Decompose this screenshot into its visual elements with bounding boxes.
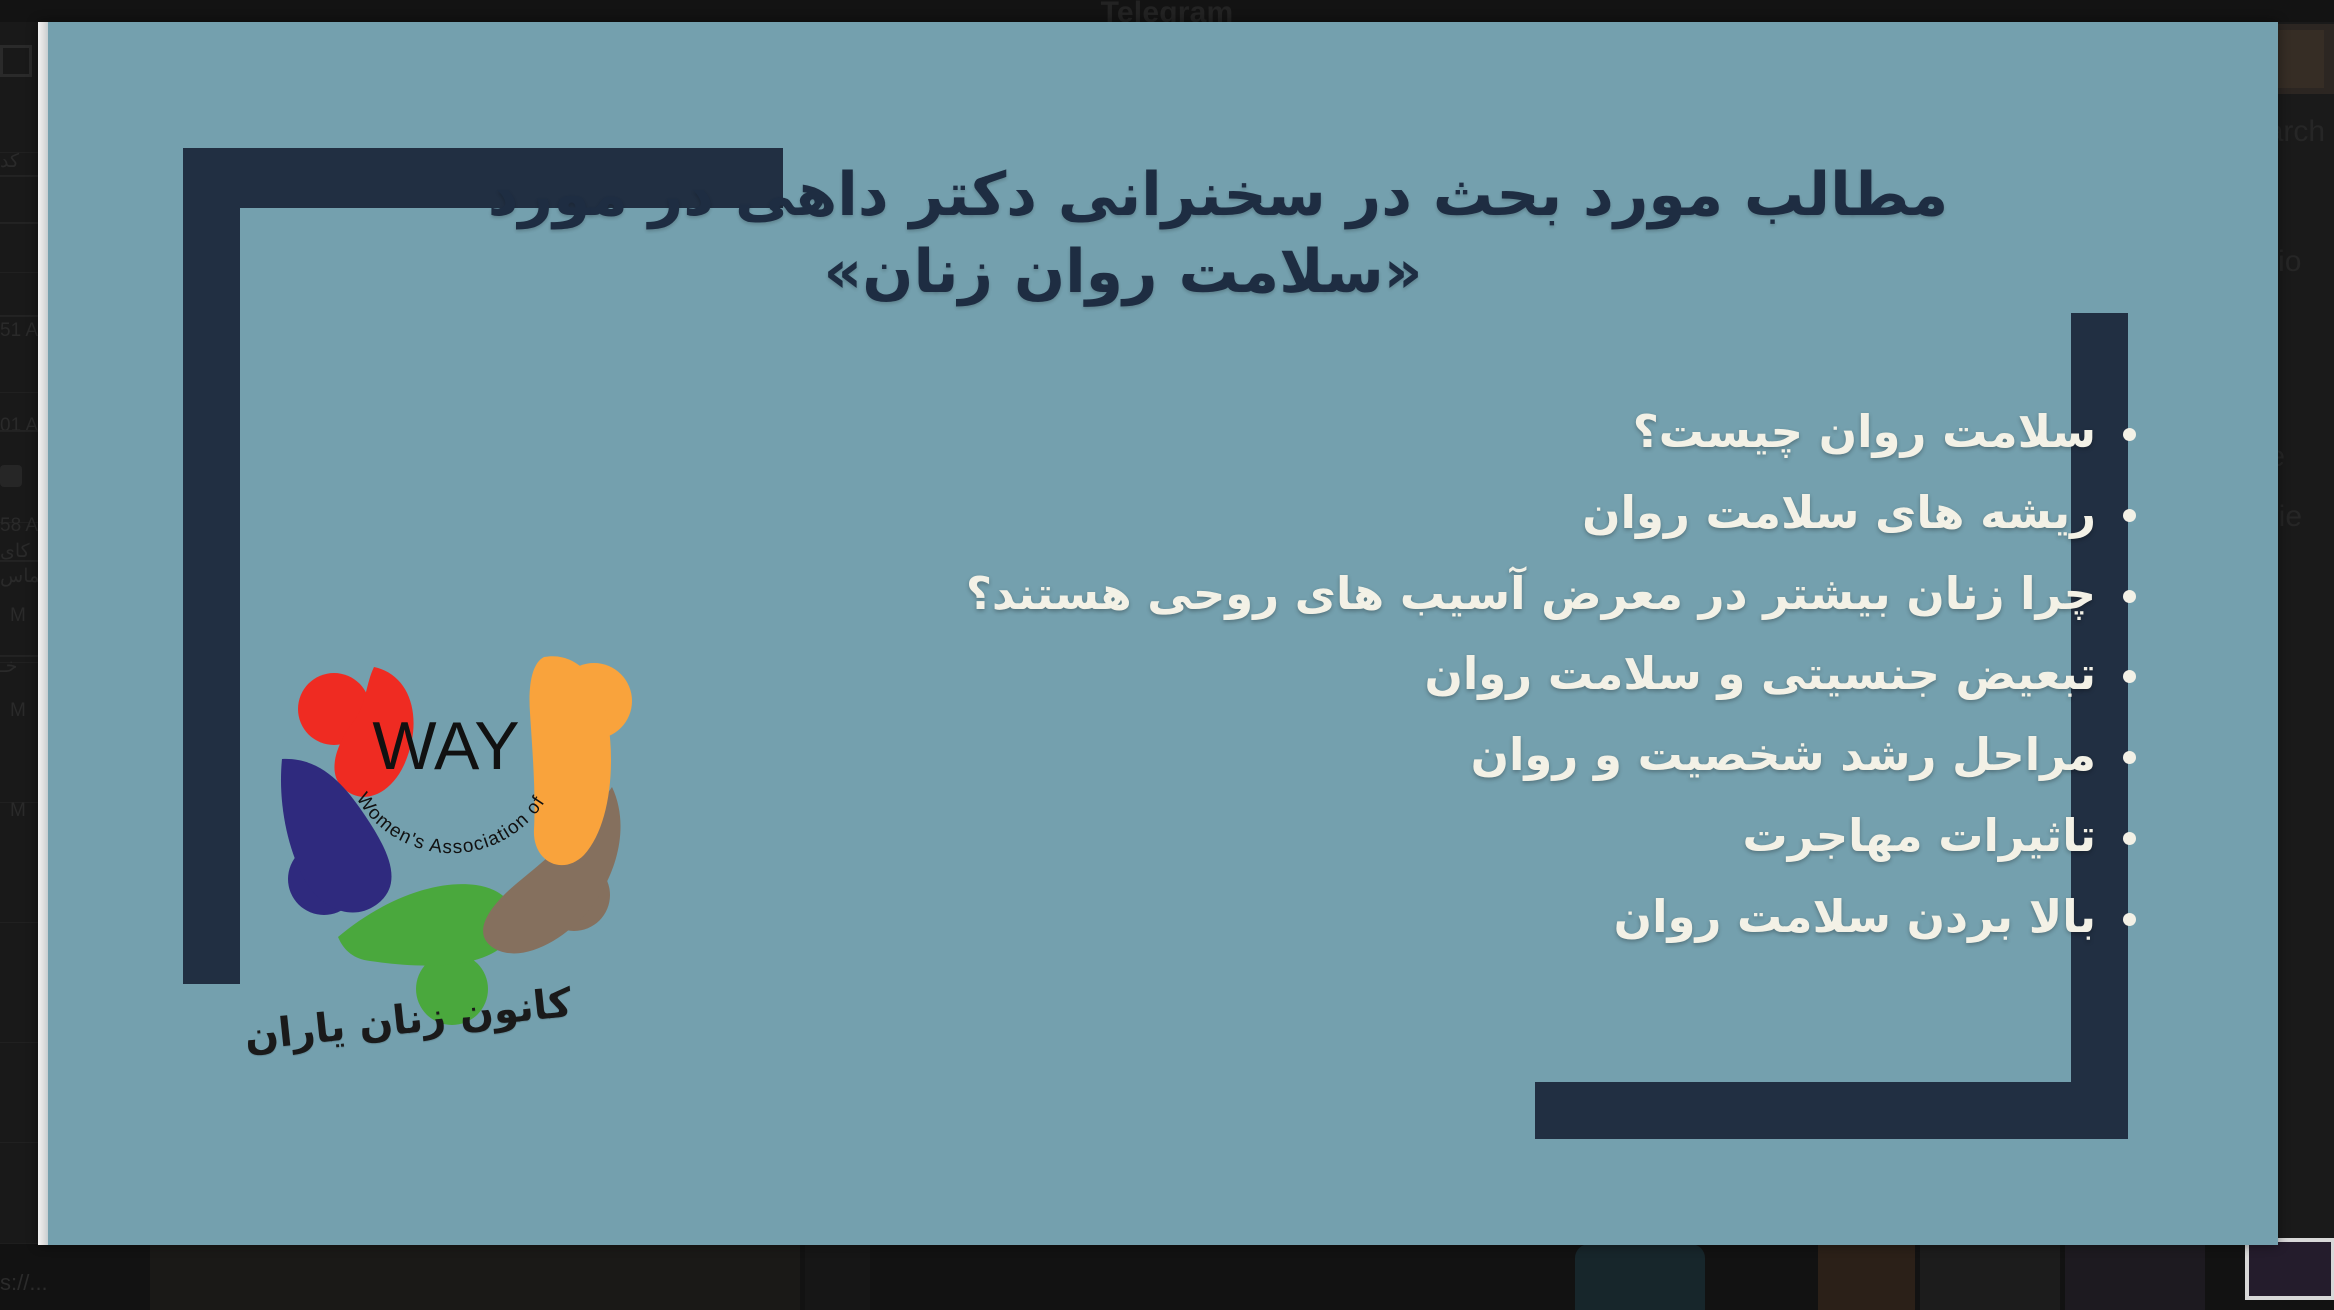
logo-acronym: WAY [372,708,519,784]
list-item: تبعیض جنسیتی و سلامت روان [868,644,2148,705]
slide-bullet-list: سلامت روان چیست؟ ریشه های سلامت روان چرا… [868,402,2148,967]
slide-title: مطالب مورد بحث در سخنرانی دکتر داهی در م… [48,157,2278,311]
list-item: سلامت روان چیست؟ [868,402,2148,463]
media-thumbnail[interactable] [150,1244,800,1310]
media-thumbnail[interactable] [2065,1244,2205,1310]
compose-icon[interactable] [0,45,32,77]
left-panel-entry: کد [0,150,19,173]
presentation-slide[interactable]: مطالب مورد بحث در سخنرانی دکتر داهی در م… [48,22,2278,1245]
telegram-left-panel[interactable] [0,22,41,1244]
media-strip: s://... [0,1243,2334,1310]
media-thumbnail[interactable] [805,1244,870,1310]
slide-title-line-1: مطالب مورد بحث در سخنرانی دکتر داهی در م… [48,157,2278,234]
left-panel-entry: خـ [0,655,17,678]
list-item: تاثیرات مهاجرت [868,806,2148,867]
media-thumbnail[interactable] [1920,1244,2060,1310]
list-item: مراحل رشد شخصیت و روان [868,725,2148,786]
list-item: چرا زنان بیشتر در معرض آسیب های روحی هست… [868,564,2148,625]
list-item: بالا بردن سلامت روان [868,887,2148,948]
left-panel-entry: M [10,700,26,722]
media-thumbnail-framed[interactable] [2245,1238,2334,1300]
media-thumbnail[interactable] [1818,1244,1915,1310]
bracket-bottom-right-horizontal [1535,1082,2128,1139]
media-thumbnail-rounded[interactable] [1575,1244,1705,1310]
left-panel-entry: M [10,605,26,627]
left-panel-entry: M [10,800,26,822]
left-panel-entry: 58 A [0,515,38,537]
list-item: ریشه های سلامت روان [868,483,2148,544]
status-url-text: s://... [0,1270,48,1296]
left-panel-entry: 51 A [0,320,38,342]
slide-title-line-2: «سلامت روان زنان» [48,234,2278,311]
download-icon[interactable] [0,465,22,487]
left-panel-entry: 01 A [0,415,38,437]
